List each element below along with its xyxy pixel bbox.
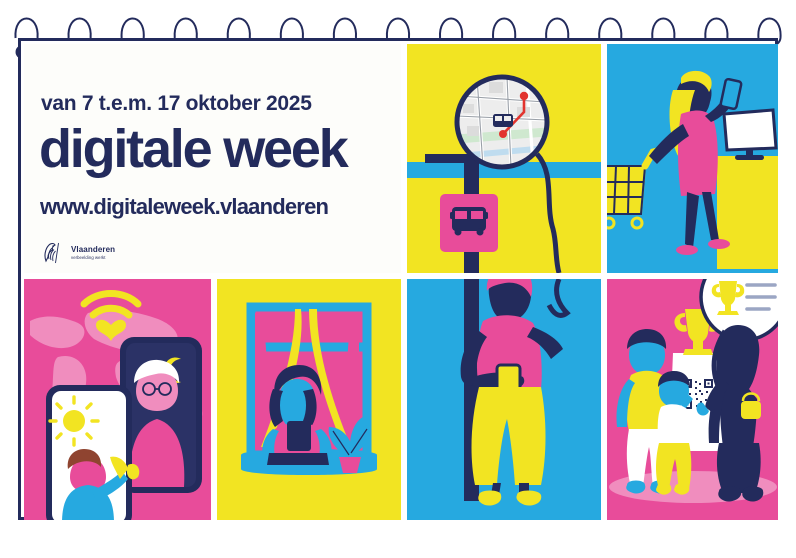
phone: [720, 79, 741, 110]
logo-name: Vlaanderen: [71, 246, 115, 254]
trousers: [472, 387, 546, 485]
magnifier-icon: [457, 77, 547, 167]
page-title: digitale week: [39, 122, 347, 176]
signal-cable: [549, 279, 567, 315]
map-pin-icon: [499, 130, 507, 138]
commuter-panel: [407, 279, 601, 520]
video-call-panel: [24, 279, 211, 520]
shoe: [742, 487, 763, 502]
museum-illustration: [607, 279, 778, 520]
phone: [287, 421, 311, 451]
shirt: [658, 404, 691, 445]
shoe: [708, 239, 730, 249]
museum-qr-panel: [607, 279, 778, 520]
bus-stop-map-panel: [407, 44, 601, 273]
vlaanderen-logo: Vlaanderen verbeelding werkt: [40, 240, 115, 266]
title-panel: van 7 t.e.m. 17 oktober 2025 digitale we…: [24, 44, 401, 273]
handbag: [741, 401, 761, 419]
window-illustration: [217, 279, 401, 520]
date-line: van 7 t.e.m. 17 oktober 2025: [41, 92, 312, 116]
window-phone-panel: [217, 279, 401, 520]
bus-stop-illustration: [407, 44, 601, 273]
checkout-counter: [717, 156, 778, 269]
lion-emblem-icon: [40, 240, 66, 266]
dress: [678, 111, 718, 196]
commuter-illustration: [407, 279, 601, 520]
map-pin-icon: [520, 92, 528, 100]
phone-child: [46, 385, 139, 520]
video-call-illustration: [24, 279, 211, 520]
shoe: [478, 491, 501, 506]
abaya: [717, 443, 761, 493]
shoe: [676, 245, 698, 255]
notebook-frame: van 7 t.e.m. 17 oktober 2025 digitale we…: [18, 38, 778, 520]
logo-text: Vlaanderen verbeelding werkt: [71, 246, 115, 260]
digitale-week-poster: van 7 t.e.m. 17 oktober 2025 digitale we…: [0, 0, 796, 558]
shopping-illustration: [607, 44, 778, 273]
shoe: [516, 491, 541, 506]
shopping-panel: [607, 44, 778, 273]
lap: [267, 453, 329, 465]
panel-grid: van 7 t.e.m. 17 oktober 2025 digitale we…: [24, 44, 778, 520]
tablet-icon: [724, 110, 776, 160]
website-url[interactable]: www.digitaleweek.vlaanderen: [40, 194, 328, 220]
sun-icon: [50, 397, 98, 445]
bus-marker: [493, 114, 513, 127]
logo-tagline: verbeelding werkt: [71, 256, 115, 260]
